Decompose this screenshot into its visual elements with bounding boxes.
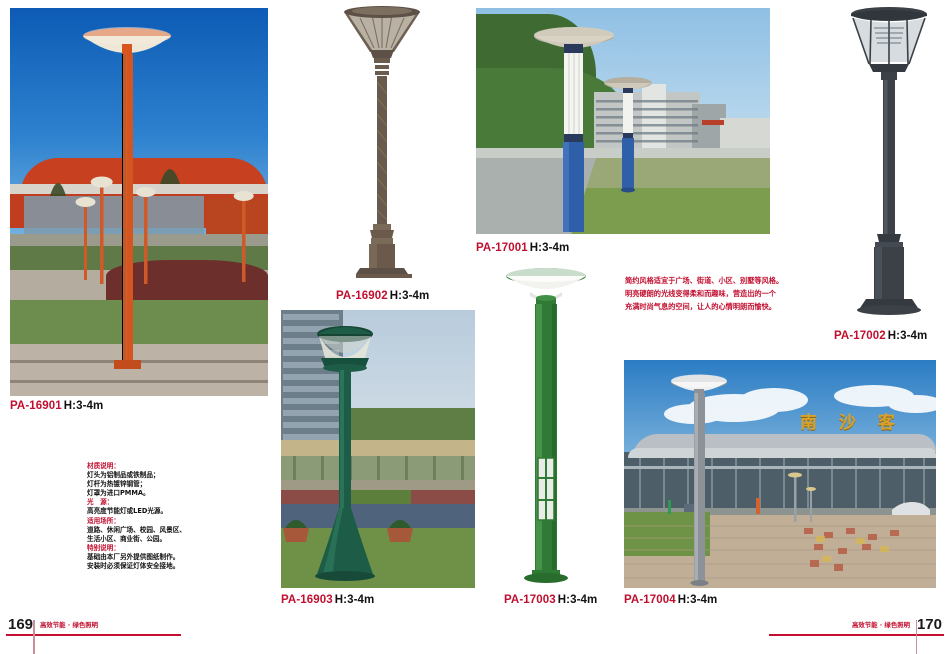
caption-pa-17002: PA-17002H:3-4m	[834, 330, 927, 342]
product-code: PA-16901	[10, 400, 62, 412]
spec-line: 基础由本厂另外提供图纸制作。	[87, 553, 227, 562]
blurb-line-2: 明亮硬朗的光线变得柔和而趣味，营造出的一个	[625, 287, 821, 300]
spec-line: 道路、休闲广场、校园、风景区、	[87, 526, 227, 535]
footer-tagline-left: 高效节能 · 绿色照明	[40, 620, 98, 629]
spec-line: 生活小区、商业街、公园。	[87, 535, 227, 544]
blurb-line-1: 简约风格适宜于广场、街道、小区、别墅等风格。	[625, 274, 821, 287]
blurb-line-3: 充满时尚气息的空间，让人的心情明朗而愉快。	[625, 300, 821, 313]
caption-pa-17004: PA-17004H:3-4m	[624, 594, 717, 606]
spec-line: 灯头为铝制品或铁制品；	[87, 471, 227, 480]
product-drawing-pa-17002	[834, 2, 944, 320]
product-drawing-pa-16902	[330, 2, 434, 282]
spec-line: 灯杆为热镀锌钢管；	[87, 480, 227, 489]
product-height: H:3-4m	[678, 594, 718, 606]
lamp-pa-17004	[624, 360, 936, 588]
specification-block: 材质说明： 灯头为铝制品或铁制品； 灯杆为热镀锌钢管； 灯罩为进口PMMA。 光…	[87, 462, 227, 571]
product-photo-pa-17001	[476, 8, 770, 234]
catalog-page: PA-16901H:3-4m	[0, 0, 950, 654]
caption-pa-17001: PA-17001H:3-4m	[476, 242, 569, 254]
footer-tagline-right: 高效节能 · 绿色照明	[852, 620, 910, 629]
page-number-left: 169	[8, 616, 33, 633]
caption-pa-17003: PA-17003H:3-4m	[504, 594, 597, 606]
product-height: H:3-4m	[335, 594, 375, 606]
spec-heading-notes: 特别说明：	[87, 544, 227, 553]
spec-heading-applications: 适用场所：	[87, 517, 227, 526]
product-photo-pa-16903	[281, 310, 475, 588]
caption-pa-16902: PA-16902H:3-4m	[336, 290, 429, 302]
spec-line: 高亮度节能灯或LED光源。	[87, 507, 227, 516]
product-code: PA-16902	[336, 290, 388, 302]
spec-line: 安装时必须保证灯体安全接地。	[87, 562, 227, 571]
page-number-right: 170	[917, 616, 942, 633]
product-code: PA-17002	[834, 330, 886, 342]
product-code: PA-17001	[476, 242, 528, 254]
spec-line: 灯罩为进口PMMA。	[87, 489, 227, 498]
lamp-pa-16901	[10, 8, 268, 396]
product-photo-pa-17004: 南 沙 客	[624, 360, 936, 588]
footer-rule	[769, 634, 944, 636]
product-code: PA-16903	[281, 594, 333, 606]
product-drawing-pa-17003	[494, 262, 598, 588]
product-code: PA-17004	[624, 594, 676, 606]
lamp-pa-16903	[281, 310, 475, 588]
product-height: H:3-4m	[558, 594, 598, 606]
lamp-pa-17001	[476, 8, 770, 234]
product-height: H:3-4m	[530, 242, 570, 254]
product-height: H:3-4m	[64, 400, 104, 412]
footer-right: 170 高效节能 · 绿色照明	[740, 612, 950, 654]
caption-pa-16901: PA-16901H:3-4m	[10, 400, 103, 412]
caption-pa-16903: PA-16903H:3-4m	[281, 594, 374, 606]
product-height: H:3-4m	[888, 330, 928, 342]
product-photo-pa-16901	[10, 8, 268, 396]
footer-left: 169 高效节能 · 绿色照明	[0, 612, 210, 654]
spec-heading-material: 材质说明：	[87, 462, 227, 471]
product-code: PA-17003	[504, 594, 556, 606]
footer-divider	[33, 620, 35, 654]
product-height: H:3-4m	[390, 290, 430, 302]
marketing-blurb: 简约风格适宜于广场、街道、小区、别墅等风格。 明亮硬朗的光线变得柔和而趣味，营造…	[625, 274, 821, 314]
